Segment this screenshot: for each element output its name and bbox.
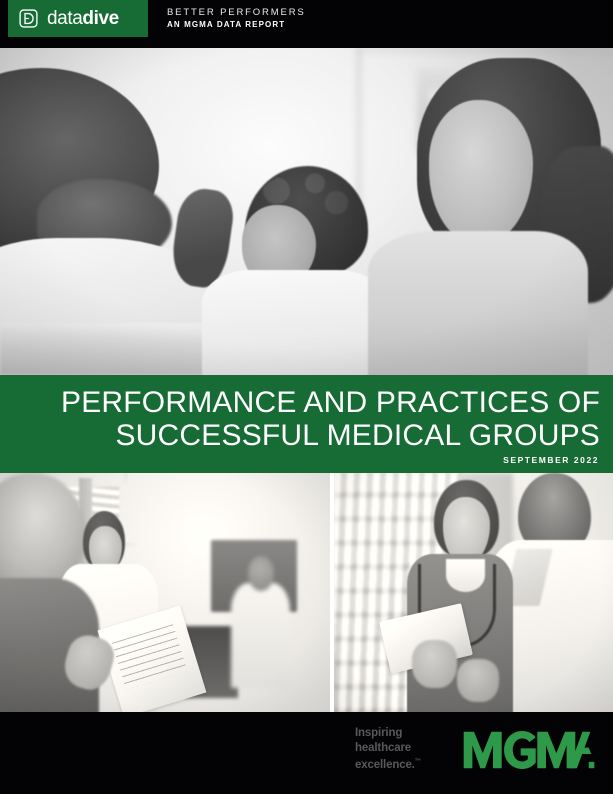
cover-header-bar: datadive BETTER PERFORMERS AN MGMA DATA …: [0, 0, 613, 48]
trademark-symbol: ™: [415, 758, 422, 765]
publication-date: SEPTEMBER 2022: [503, 455, 599, 465]
logo-word-light: data: [47, 8, 82, 29]
right-photo-vignette: [334, 473, 613, 712]
datadive-d-mark-icon: [19, 9, 38, 28]
mgma-wordmark-icon: [463, 731, 595, 769]
series-headline: BETTER PERFORMERS AN MGMA DATA REPORT: [167, 6, 306, 31]
tagline-line-3: excellence.: [355, 759, 415, 771]
title-line-2: SUCCESSFUL MEDICAL GROUPS: [61, 419, 600, 452]
title-band: PERFORMANCE AND PRACTICES OF SUCCESSFUL …: [0, 375, 613, 473]
tagline-line-1: Inspiring: [355, 726, 421, 741]
photo-strip-item-left: [0, 473, 330, 712]
hero-photo-scene: [0, 48, 613, 375]
title-line-1: PERFORMANCE AND PRACTICES OF: [61, 386, 600, 419]
tagline-line-3-wrap: excellence.™: [355, 755, 421, 772]
logo-word-bold: dive: [82, 8, 118, 29]
datadive-logo[interactable]: datadive: [8, 0, 148, 37]
page-title: PERFORMANCE AND PRACTICES OF SUCCESSFUL …: [61, 386, 600, 452]
photo-strip-item-right: [334, 473, 613, 712]
left-photo-vignette: [0, 473, 330, 712]
series-subtitle: AN MGMA DATA REPORT: [167, 19, 306, 31]
tagline-line-2: healthcare: [355, 741, 421, 756]
mgma-logo[interactable]: [463, 731, 595, 769]
series-title: BETTER PERFORMERS: [167, 6, 306, 19]
report-cover-page: datadive BETTER PERFORMERS AN MGMA DATA …: [0, 0, 613, 794]
mgma-tagline: Inspiring healthcare excellence.™: [355, 726, 421, 772]
photo-strip: [0, 473, 613, 712]
hero-vignette: [0, 48, 613, 375]
datadive-wordmark: datadive: [47, 9, 119, 28]
hero-photo: [0, 48, 613, 375]
